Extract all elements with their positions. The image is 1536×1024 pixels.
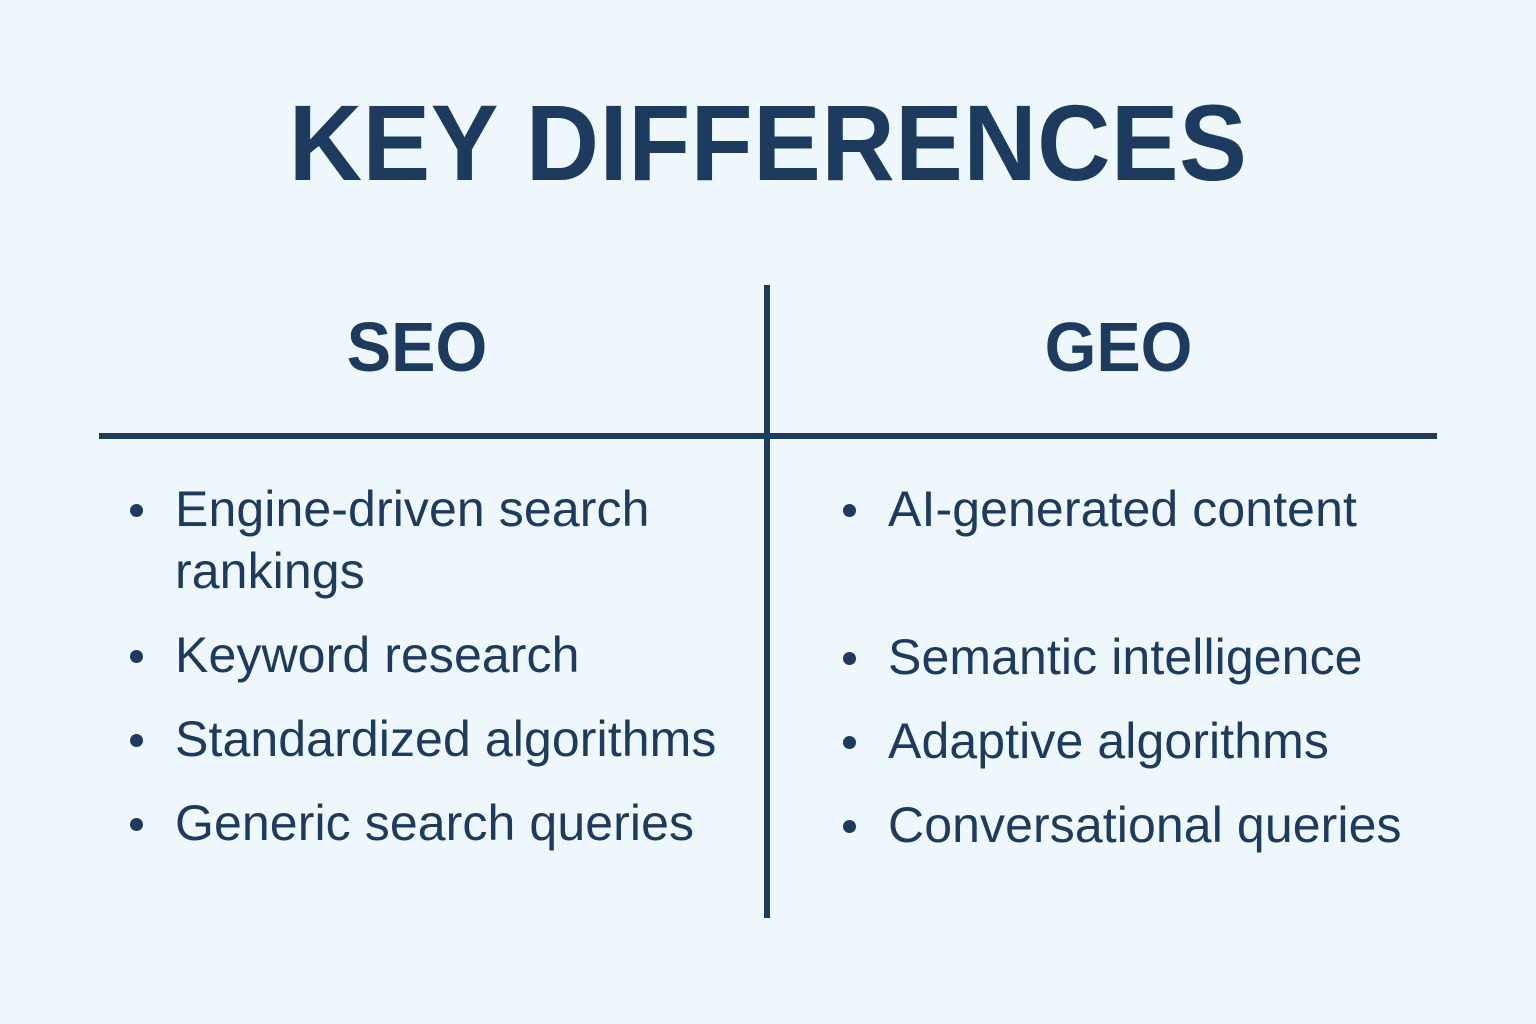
bullet-dot-icon — [130, 734, 143, 747]
list-item-line: Keyword research — [175, 624, 728, 686]
list-item-line: Conversational queries — [888, 794, 1441, 856]
list-item-line: Engine-driven search — [175, 478, 728, 540]
list-item-line: Standardized algorithms — [175, 708, 728, 770]
list-item: Engine-driven search rankings — [128, 478, 728, 602]
bullet-list-geo: AI-generated content Semantic intelligen… — [841, 478, 1441, 856]
bullet-dot-icon — [130, 504, 143, 517]
bullet-dot-icon — [843, 736, 856, 749]
column-separator-divider — [764, 285, 770, 918]
page-title: KEY DIFFERENCES — [46, 86, 1490, 199]
list-item: Conversational queries — [841, 794, 1441, 856]
list-item: Generic search queries — [128, 792, 728, 854]
list-item-line: rankings — [175, 540, 728, 602]
list-item: AI-generated content — [841, 478, 1441, 540]
bullet-dot-icon — [843, 504, 856, 517]
list-item: Semantic intelligence — [841, 626, 1441, 688]
list-item-line: Generic search queries — [175, 792, 728, 854]
list-item: Standardized algorithms — [128, 708, 728, 770]
bullet-list-seo: Engine-driven search rankings Keyword re… — [128, 478, 728, 854]
column-header-geo: GEO — [816, 312, 1421, 382]
bullet-dot-icon — [843, 652, 856, 665]
column-seo: Engine-driven search rankings Keyword re… — [128, 478, 728, 854]
list-item-line: Semantic intelligence — [888, 626, 1441, 688]
list-item-line: Adaptive algorithms — [888, 710, 1441, 772]
bullet-dot-icon — [843, 820, 856, 833]
list-item: Adaptive algorithms — [841, 710, 1441, 772]
list-item-line: AI-generated content — [888, 478, 1441, 540]
list-item: Keyword research — [128, 624, 728, 686]
bullet-dot-icon — [130, 650, 143, 663]
bullet-dot-icon — [130, 818, 143, 831]
column-geo: AI-generated content Semantic intelligen… — [841, 478, 1441, 856]
comparison-graphic: KEY DIFFERENCES SEO GEO Engine-driven se… — [0, 0, 1536, 1024]
column-header-seo: SEO — [115, 312, 719, 382]
